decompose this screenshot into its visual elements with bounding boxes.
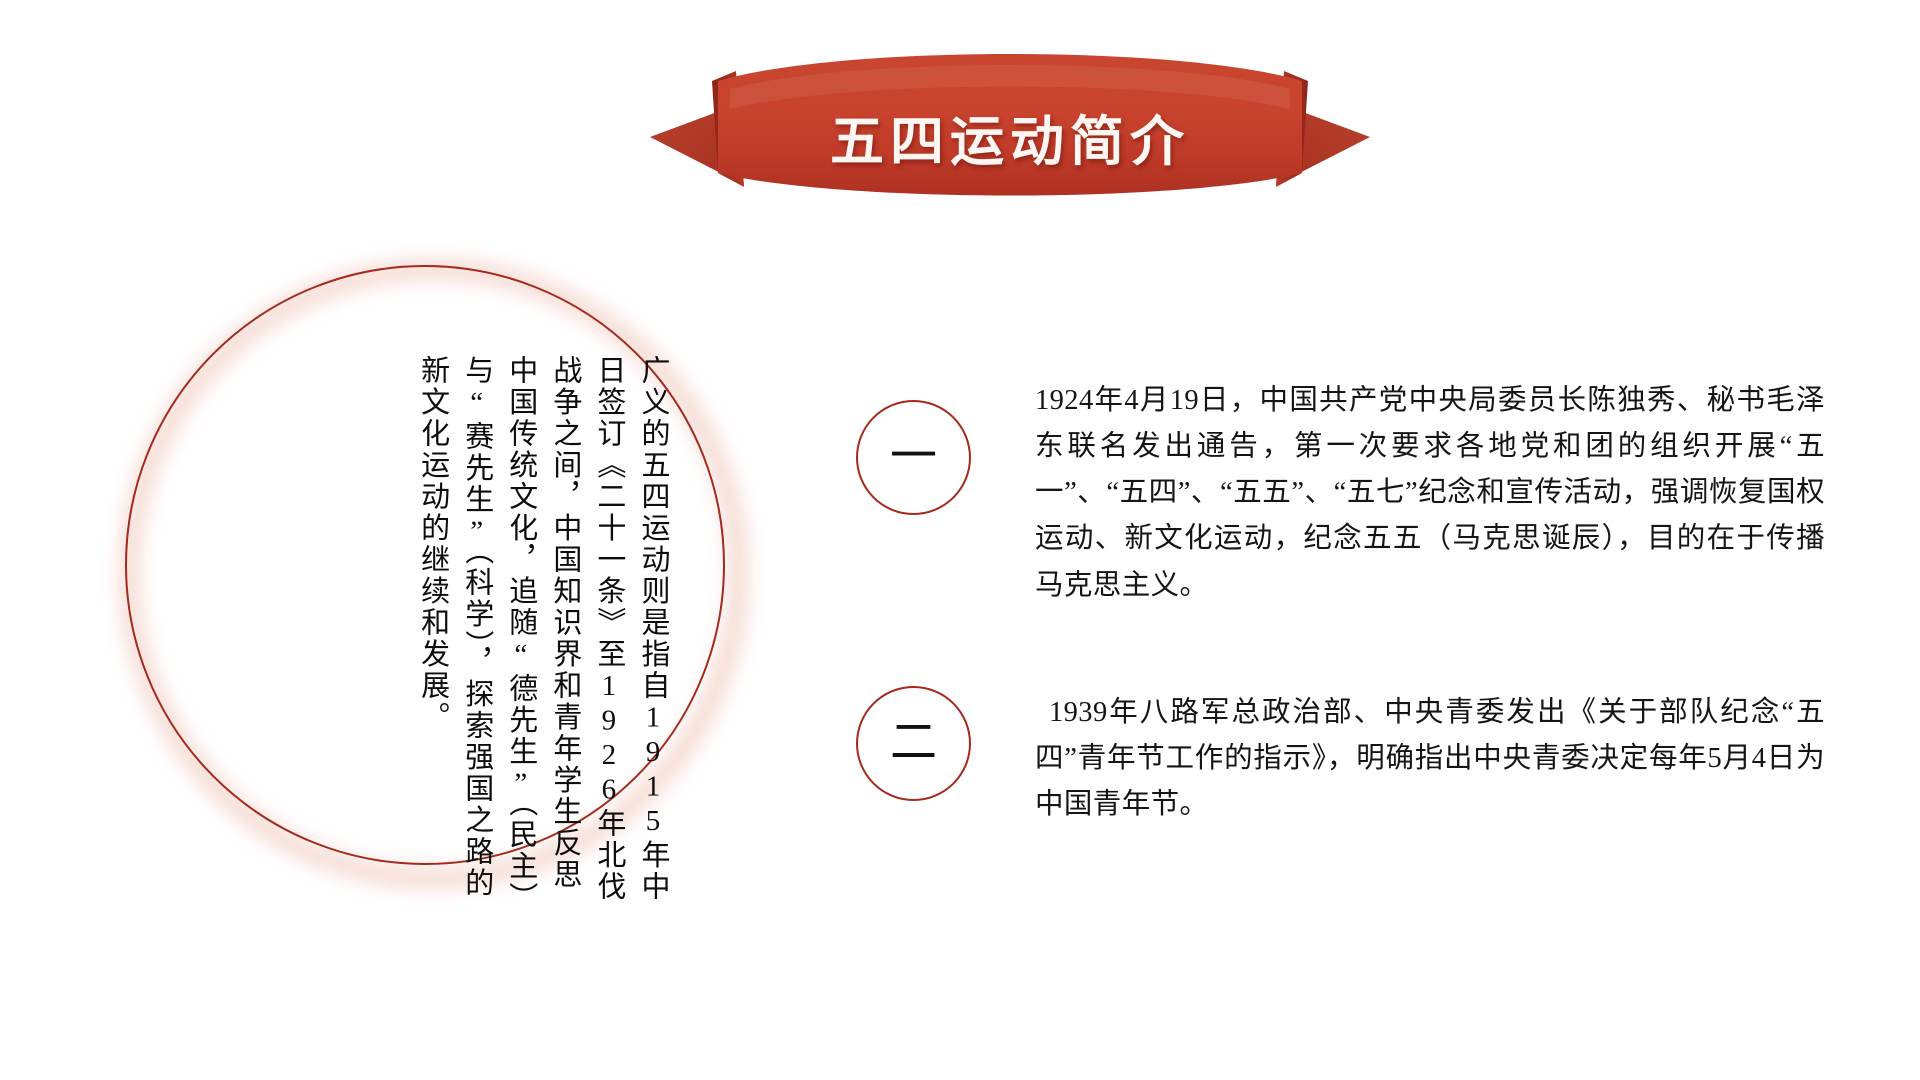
paragraph-two: 1939年八路军总政治部、中央青委发出《关于部队纪念“五四”青年节工作的指示》，…: [1035, 690, 1825, 828]
number-circle-two: 二: [856, 686, 971, 801]
ribbon-banner: 五四运动简介: [640, 45, 1380, 210]
paragraph-one: 1924年4月19日，中国共产党中央局委员长陈独秀、秘书毛泽东联名发出通告，第一…: [1035, 378, 1825, 609]
number-label-one: 一: [890, 434, 937, 481]
slide-root: 五四运动简介 广义的五四运动则是指自1915年中日签订《二十一条》至1926年北…: [0, 0, 1920, 1080]
number-label-two: 二: [890, 720, 937, 767]
vertical-description-text: 广义的五四运动则是指自1915年中日签订《二十一条》至1926年北伐战争之间，中…: [205, 355, 675, 915]
number-circle-one: 一: [856, 400, 971, 515]
page-title: 五四运动简介: [640, 97, 1380, 176]
